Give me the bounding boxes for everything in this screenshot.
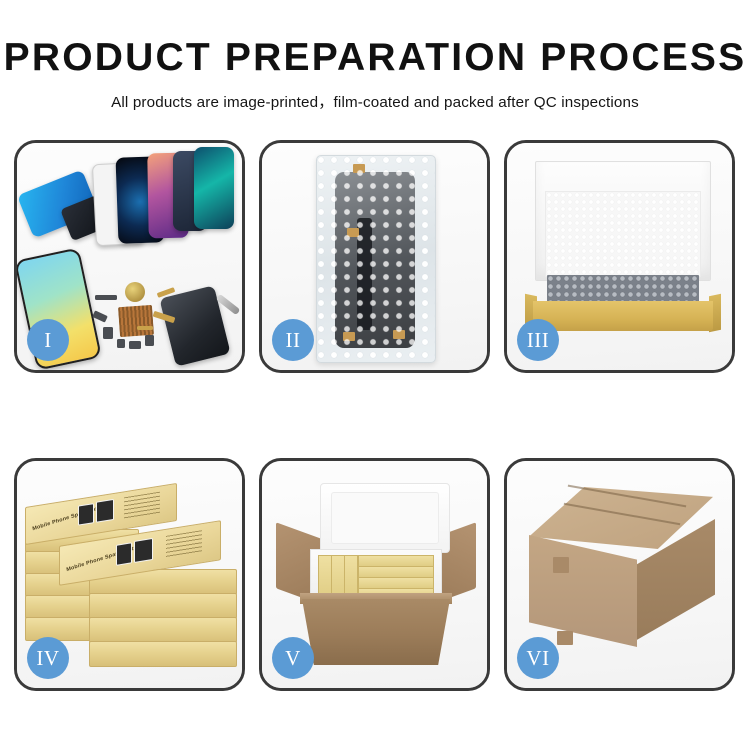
process-step-panel-2[interactable]: II (259, 140, 490, 373)
chip-component (145, 335, 154, 346)
box-label-phone-image (78, 503, 94, 526)
step-badge-1: I (27, 319, 69, 361)
bubble-wrap-bag (316, 155, 436, 363)
tape-piece (347, 228, 359, 237)
process-step-panel-1[interactable]: I (14, 140, 245, 373)
step-badge-2: II (272, 319, 314, 361)
foam-box-lid (320, 483, 450, 553)
carton-front-face (302, 599, 450, 665)
chip-component (129, 341, 141, 349)
stacked-box (89, 617, 237, 643)
tape-piece (343, 332, 355, 341)
wrapped-phone-part (335, 172, 415, 348)
chip-component (117, 339, 125, 348)
step-badge-6: VI (517, 637, 559, 679)
foam-padding (545, 191, 701, 277)
page-title: PRODUCT PREPARATION PROCESS (0, 38, 750, 79)
stacked-box (89, 641, 237, 667)
carton-tape-tab (553, 557, 569, 573)
tape-piece (393, 330, 405, 339)
box-label-spec-lines (124, 492, 160, 520)
page-subtitle: All products are image-printed，film-coat… (0, 90, 750, 112)
phone-screen-teal (194, 147, 234, 229)
chip-component (103, 327, 113, 339)
box-label-phone-image (96, 499, 114, 523)
step-badge-3: III (517, 319, 559, 361)
circuit-board-component (118, 305, 154, 337)
grey-bubble-wrapped-contents (547, 275, 699, 303)
process-step-panel-3[interactable]: III (504, 140, 735, 373)
chip-component (92, 310, 108, 322)
carton-front-face (529, 535, 637, 647)
flex-cable-strip (357, 218, 372, 330)
process-step-panel-6[interactable]: VI (504, 458, 735, 691)
foam-box-lid-inner (331, 492, 439, 544)
step-badge-5: V (272, 637, 314, 679)
yellow-box-body (533, 301, 713, 331)
stacked-box (89, 593, 237, 619)
chip-component (95, 295, 117, 300)
flex-cable-component (137, 326, 153, 330)
step-badge-4: IV (27, 637, 69, 679)
box-label-phone-image (134, 538, 153, 563)
process-step-panel-4[interactable]: Mobile Phone Spare Parts Mobile Phone Sp… (14, 458, 245, 691)
header: PRODUCT PREPARATION PROCESS All products… (0, 0, 750, 112)
speaker-component (125, 282, 145, 302)
process-steps-grid: I II III (14, 140, 736, 691)
carton-tape-tab (557, 631, 573, 645)
box-label-spec-lines (166, 530, 202, 558)
box-label-phone-image (116, 542, 132, 566)
process-step-panel-5[interactable]: V (259, 458, 490, 691)
tape-piece (353, 164, 365, 173)
